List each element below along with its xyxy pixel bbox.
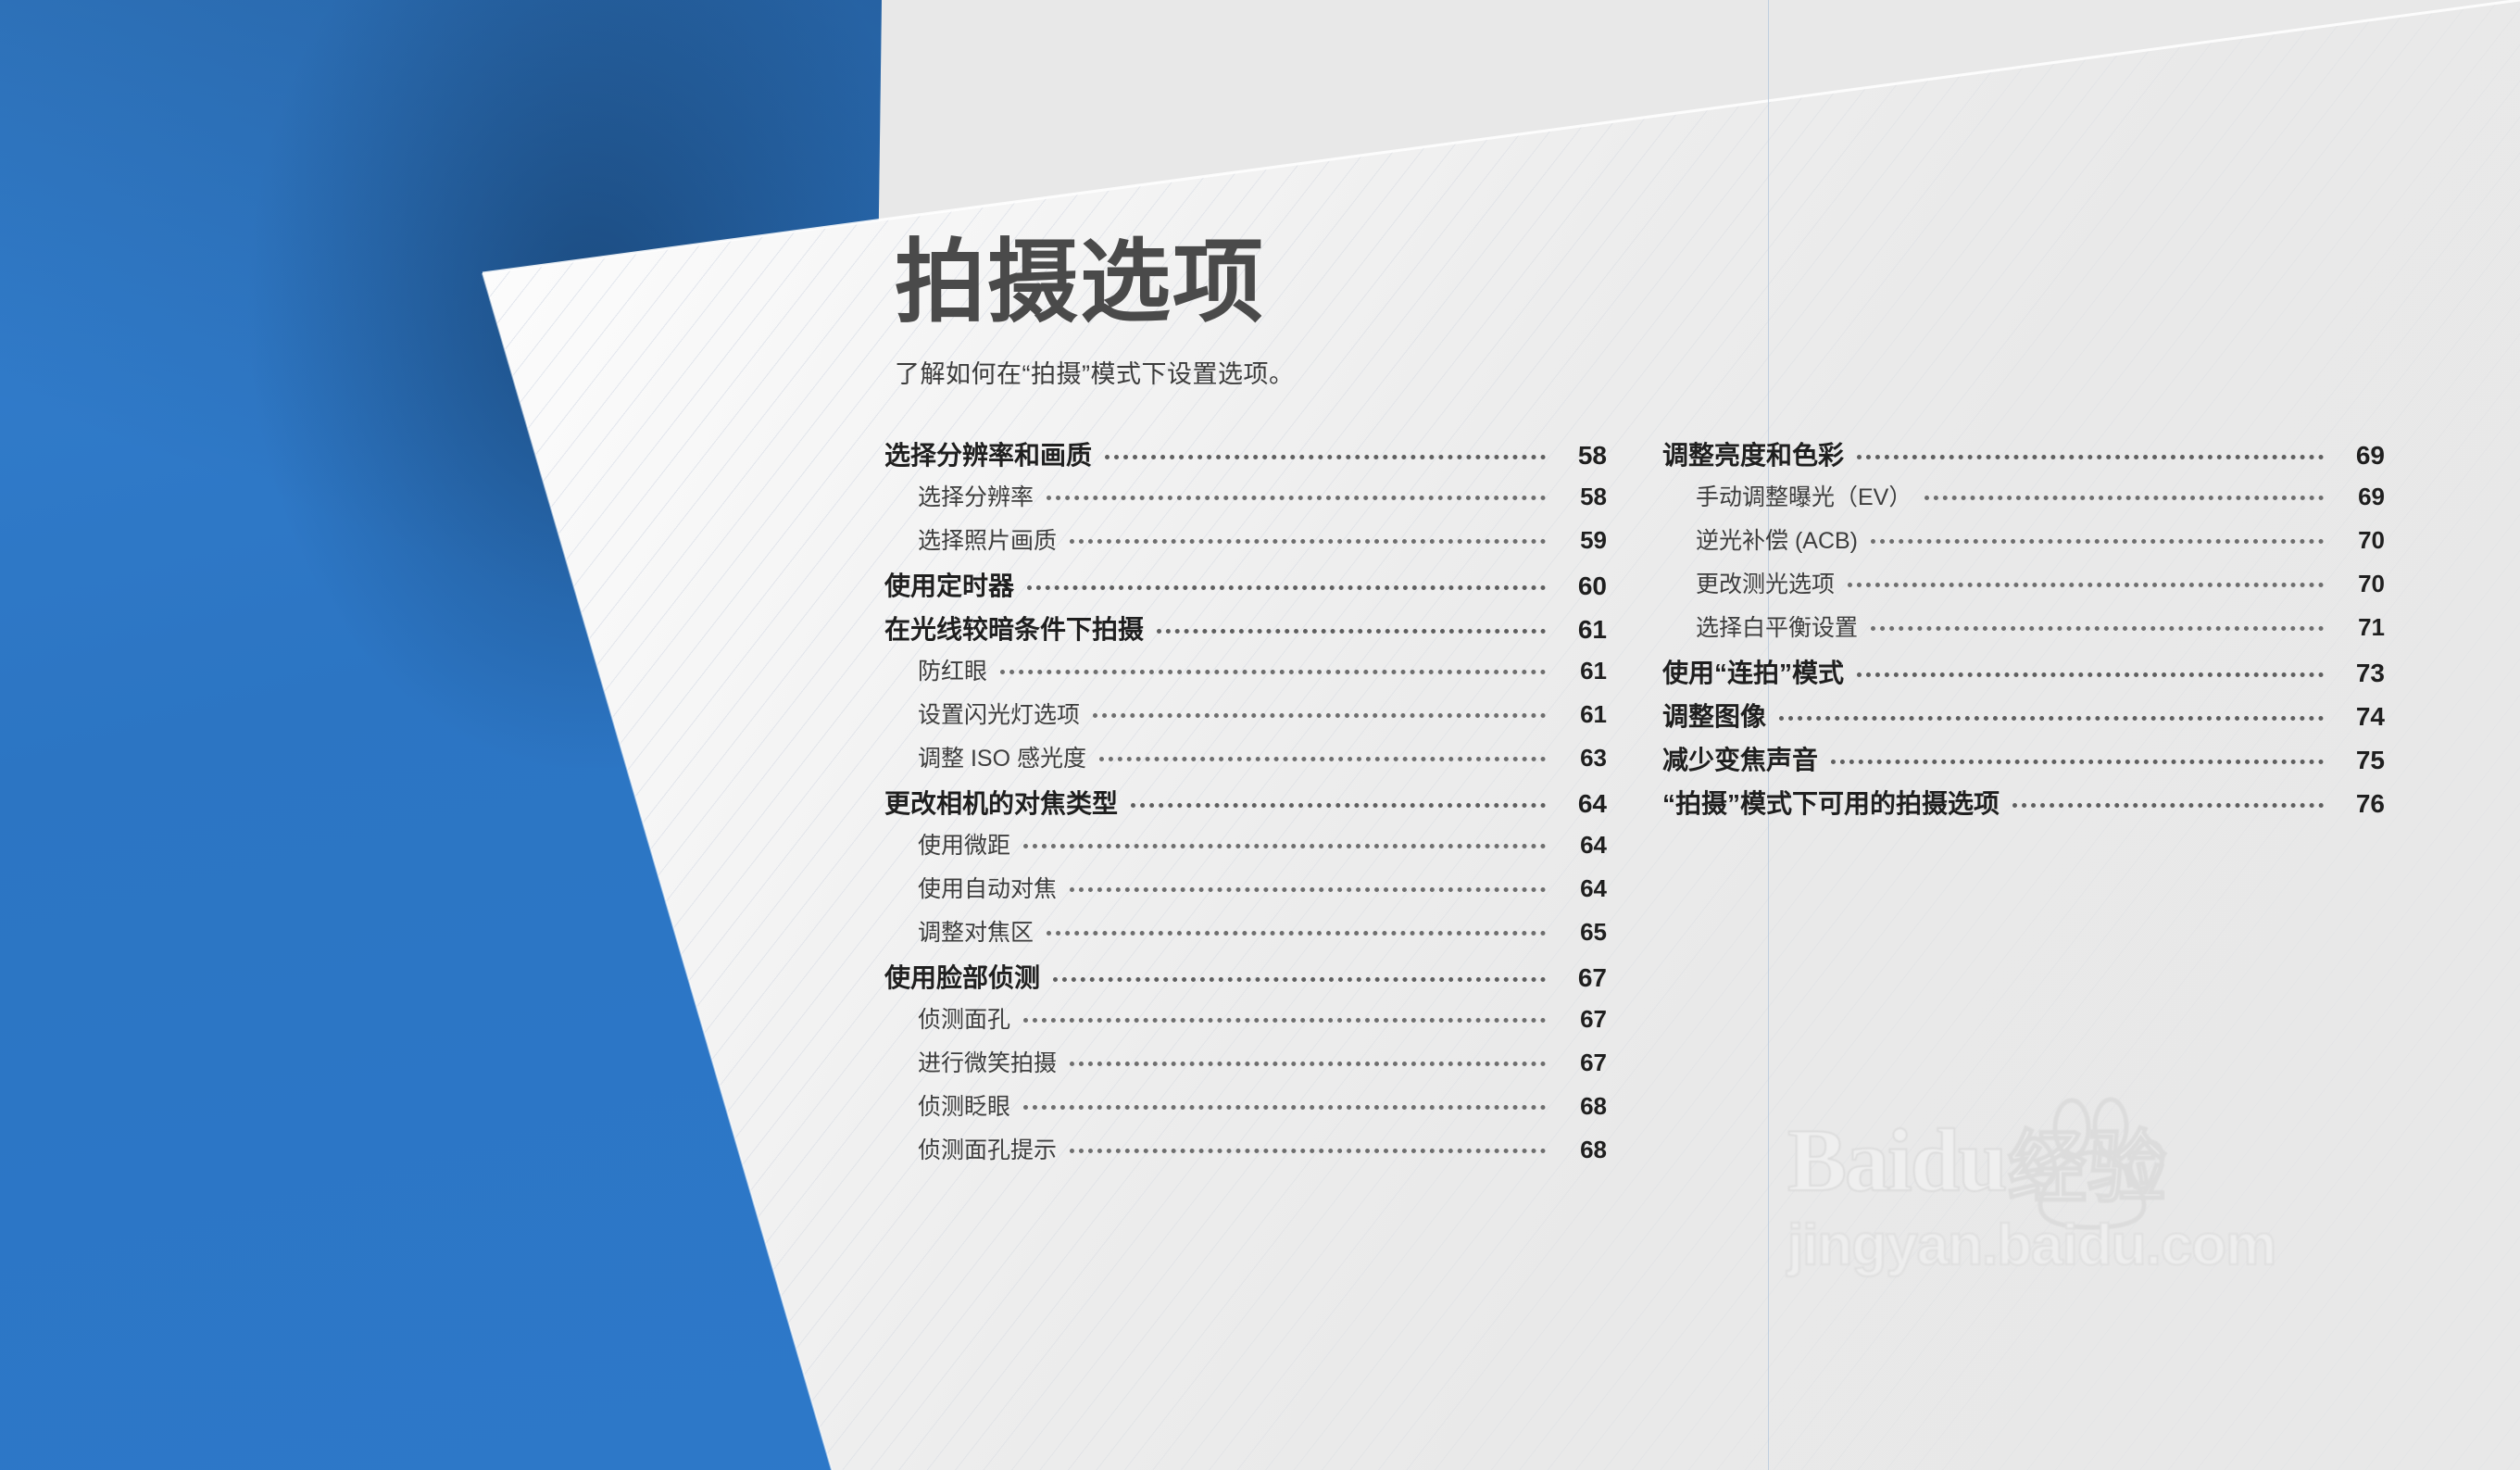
toc-entry-label: 选择照片画质 [918, 522, 1057, 556]
toc-entry-page-number: 70 [2335, 570, 2385, 598]
toc-entry-page-number: 75 [2335, 746, 2385, 775]
toc-entry-label: 使用“连拍”模式 [1662, 653, 1844, 690]
toc-entry-page-number: 64 [1557, 874, 1607, 903]
toc-entry-label: 防红眼 [918, 653, 987, 686]
toc-entry-label: 减少变焦声音 [1662, 740, 1818, 777]
toc-entry-label: 在光线较暗条件下拍摄 [884, 609, 1144, 647]
toc-entry[interactable]: 更改测光选项70 [1662, 566, 2385, 609]
toc-entry-page-number: 70 [2335, 526, 2385, 555]
toc-leader-dots [1047, 496, 1546, 500]
toc-entry-page-number: 61 [1557, 615, 1607, 645]
toc-entry[interactable]: 选择分辨率和画质58 [884, 435, 1607, 479]
toc-leader-dots [1070, 887, 1546, 892]
toc-leader-dots [1831, 760, 2324, 764]
toc-entry-label: 侦测面孔提示 [918, 1132, 1057, 1165]
toc-entry[interactable]: 侦测面孔67 [884, 1001, 1607, 1045]
toc-leader-dots [1924, 496, 2324, 500]
toc-entry[interactable]: 侦测面孔提示68 [884, 1132, 1607, 1175]
toc-entry-page-number: 68 [1557, 1092, 1607, 1121]
toc-entry[interactable]: 调整对焦区65 [884, 914, 1607, 958]
toc-entry-label: 选择分辨率 [918, 479, 1034, 512]
toc-leader-dots [1105, 455, 1546, 459]
toc-entry[interactable]: 选择照片画质59 [884, 522, 1607, 566]
toc-entry-page-number: 71 [2335, 613, 2385, 642]
toc-leader-dots [1023, 1018, 1546, 1023]
page-title: 拍摄选项 [895, 234, 1265, 331]
toc-entry-label: 使用脸部侦测 [884, 958, 1040, 995]
toc-entry-label: 选择分辨率和画质 [884, 435, 1092, 472]
toc-leader-dots [1779, 716, 2324, 721]
toc-entry-label: 调整亮度和色彩 [1662, 435, 1844, 472]
toc-leader-dots [1157, 629, 1546, 634]
toc-left-column: 选择分辨率和画质58选择分辨率58选择照片画质59使用定时器60在光线较暗条件下… [884, 435, 1607, 1175]
toc-leader-dots [1047, 931, 1546, 936]
toc-entry-label: 侦测面孔 [918, 1001, 1010, 1035]
toc-entry-label: 调整图像 [1662, 697, 1766, 734]
toc-entry[interactable]: 使用“连拍”模式73 [1662, 653, 2385, 697]
toc-entry[interactable]: 调整图像74 [1662, 697, 2385, 740]
toc-entry-page-number: 74 [2335, 702, 2385, 732]
toc-leader-dots [1053, 977, 1546, 982]
toc-entry[interactable]: 更改相机的对焦类型64 [884, 784, 1607, 827]
toc-entry-label: 调整 ISO 感光度 [918, 740, 1086, 773]
toc-entry-label: 使用自动对焦 [918, 871, 1057, 904]
toc-entry-label: 使用微距 [918, 827, 1010, 861]
toc-leader-dots [1857, 455, 2324, 459]
toc-entry-label: 选择白平衡设置 [1696, 609, 1858, 643]
toc-entry-page-number: 63 [1557, 744, 1607, 773]
toc-entry-page-number: 64 [1557, 831, 1607, 860]
page-content: 拍摄选项 了解如何在“拍摄”模式下设置选项。 选择分辨率和画质58选择分辨率58… [0, 0, 2520, 1470]
toc-entry-page-number: 60 [1557, 572, 1607, 601]
toc-entry-page-number: 65 [1557, 918, 1607, 947]
toc-entry-page-number: 64 [1557, 789, 1607, 819]
toc-entry-page-number: 67 [1557, 1049, 1607, 1077]
toc-leader-dots [1023, 844, 1546, 848]
toc-entry-page-number: 67 [1557, 963, 1607, 993]
toc-leader-dots [1099, 757, 1546, 761]
toc-entry-page-number: 69 [2335, 441, 2385, 471]
toc-entry[interactable]: 逆光补偿 (ACB)70 [1662, 522, 2385, 566]
toc-entry-page-number: 59 [1557, 526, 1607, 555]
toc-entry[interactable]: 设置闪光灯选项61 [884, 697, 1607, 740]
toc-entry[interactable]: “拍摄”模式下可用的拍摄选项76 [1662, 784, 2385, 827]
toc-leader-dots [1871, 626, 2324, 631]
toc-entry[interactable]: 使用脸部侦测67 [884, 958, 1607, 1001]
toc-leader-dots [1857, 672, 2324, 677]
toc-entry[interactable]: 在光线较暗条件下拍摄61 [884, 609, 1607, 653]
toc-leader-dots [1027, 585, 1546, 590]
toc-entry-page-number: 67 [1557, 1005, 1607, 1034]
toc-leader-dots [1093, 713, 1546, 718]
toc-leader-dots [1070, 539, 1546, 544]
toc-entry-page-number: 68 [1557, 1136, 1607, 1164]
toc-entry[interactable]: 调整 ISO 感光度63 [884, 740, 1607, 784]
toc-entry[interactable]: 手动调整曝光（EV）69 [1662, 479, 2385, 522]
toc-entry-label: 进行微笑拍摄 [918, 1045, 1057, 1078]
toc-entry-label: 更改测光选项 [1696, 566, 1835, 599]
toc-entry-label: 逆光补偿 (ACB) [1696, 522, 1858, 556]
toc-entry-label: 调整对焦区 [918, 914, 1034, 948]
toc-entry-label: 设置闪光灯选项 [918, 697, 1080, 730]
toc-entry[interactable]: 使用微距64 [884, 827, 1607, 871]
toc-entry[interactable]: 选择分辨率58 [884, 479, 1607, 522]
toc-entry[interactable]: 进行微笑拍摄67 [884, 1045, 1607, 1088]
toc-entry[interactable]: 调整亮度和色彩69 [1662, 435, 2385, 479]
toc-entry-page-number: 69 [2335, 483, 2385, 511]
page-subtitle: 了解如何在“拍摄”模式下设置选项。 [895, 354, 1294, 390]
toc-leader-dots [1848, 583, 2324, 587]
toc-leader-dots [1871, 539, 2324, 544]
toc-leader-dots [2012, 803, 2324, 808]
toc-leader-dots [1023, 1105, 1546, 1110]
toc-leader-dots [1131, 803, 1546, 808]
toc-leader-dots [1070, 1062, 1546, 1066]
toc-entry-page-number: 61 [1557, 657, 1607, 685]
toc-leader-dots [1070, 1149, 1546, 1153]
toc-entry-label: 使用定时器 [884, 566, 1014, 603]
toc-entry[interactable]: 选择白平衡设置71 [1662, 609, 2385, 653]
toc-entry[interactable]: 使用定时器60 [884, 566, 1607, 609]
toc-entry-page-number: 58 [1557, 483, 1607, 511]
toc-entry-page-number: 76 [2335, 789, 2385, 819]
toc-entry-label: 更改相机的对焦类型 [884, 784, 1118, 821]
toc-entry-label: “拍摄”模式下可用的拍摄选项 [1662, 784, 2000, 821]
toc-entry-label: 手动调整曝光（EV） [1696, 479, 1912, 512]
toc-entry[interactable]: 侦测眨眼68 [884, 1088, 1607, 1132]
toc-leader-dots [1000, 670, 1546, 674]
toc-right-column: 调整亮度和色彩69手动调整曝光（EV）69逆光补偿 (ACB)70更改测光选项7… [1662, 435, 2385, 827]
toc-entry[interactable]: 减少变焦声音75 [1662, 740, 2385, 784]
toc-entry[interactable]: 使用自动对焦64 [884, 871, 1607, 914]
toc-entry[interactable]: 防红眼61 [884, 653, 1607, 697]
toc-entry-label: 侦测眨眼 [918, 1088, 1010, 1122]
document-page: 拍摄选项 了解如何在“拍摄”模式下设置选项。 选择分辨率和画质58选择分辨率58… [0, 0, 2520, 1470]
toc-entry-page-number: 73 [2335, 659, 2385, 688]
toc-entry-page-number: 61 [1557, 700, 1607, 729]
toc-entry-page-number: 58 [1557, 441, 1607, 471]
